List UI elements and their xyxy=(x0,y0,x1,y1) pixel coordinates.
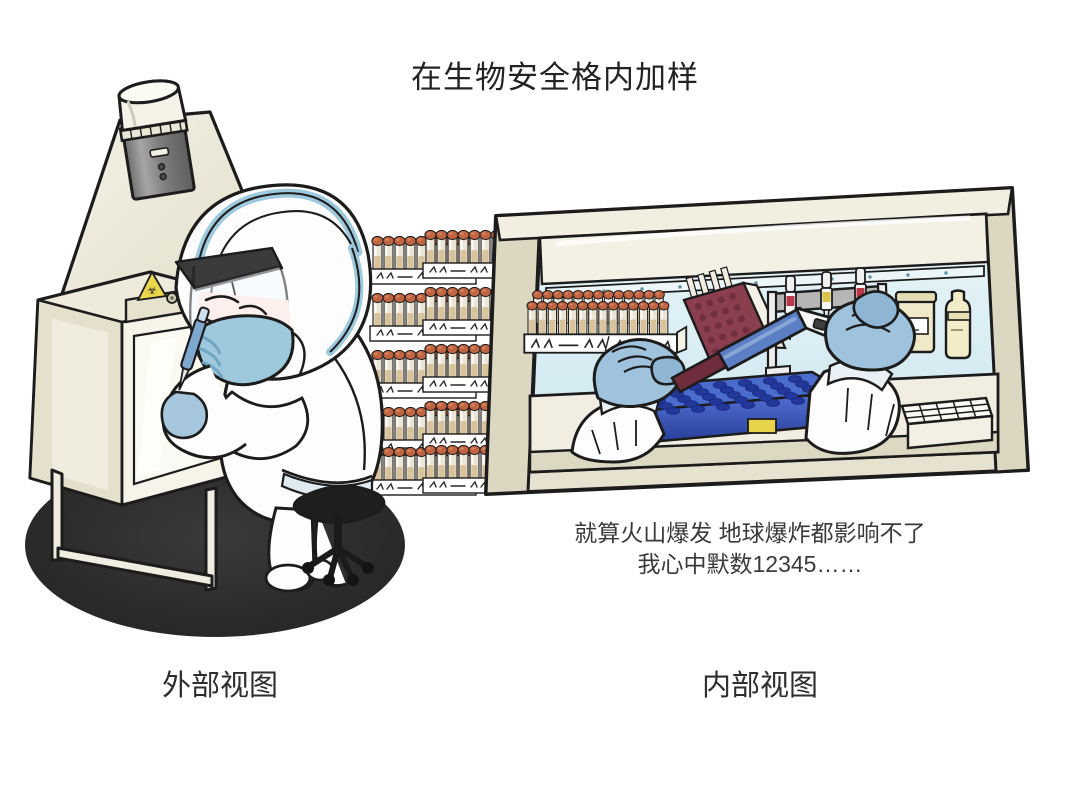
illustration-page: 在生物安全格内加样 xyxy=(0,0,1080,806)
tip-box xyxy=(902,398,992,448)
reagent-bottle xyxy=(946,291,970,359)
scene-right-internal-view xyxy=(486,188,1028,494)
rack-front-label xyxy=(748,419,776,433)
scene-caption: 就算火山爆发 地球爆炸都影响不了 我心中默数12345…… xyxy=(530,518,970,580)
label-internal-view: 内部视图 xyxy=(620,662,900,704)
scene-left-external-view: ☣ xyxy=(25,77,529,637)
gloved-hand-external xyxy=(162,392,207,438)
caption-line-1: 就算火山爆发 地球爆炸都影响不了 xyxy=(574,520,925,546)
caption-line-2: 我心中默数12345…… xyxy=(530,549,970,580)
label-external-view: 外部视图 xyxy=(90,662,350,704)
svg-text:☣: ☣ xyxy=(147,285,157,297)
